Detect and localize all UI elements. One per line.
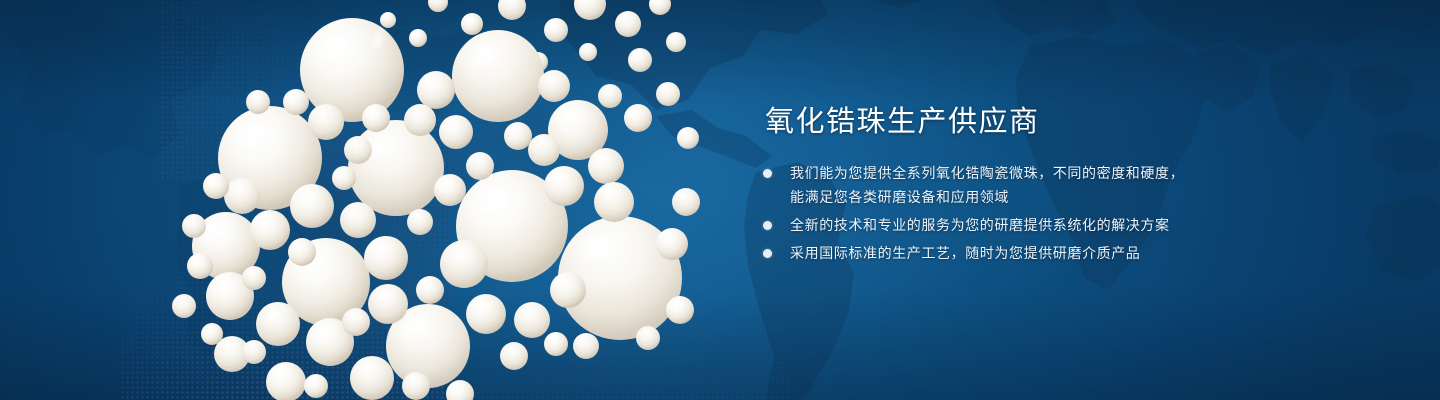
list-item: 我们能为您提供全系列氧化锆陶瓷微珠，不同的密度和硬度， 能满足您各类研磨设备和应… bbox=[762, 161, 1362, 209]
list-item-line: 采用国际标准的生产工艺，随时为您提供研磨介质产品 bbox=[790, 241, 1362, 265]
banner-copy: 氧化锆珠生产供应商 我们能为您提供全系列氧化锆陶瓷微珠，不同的密度和硬度， 能满… bbox=[762, 105, 1362, 269]
product-image-zirconia-beads bbox=[120, 0, 720, 400]
list-item: 采用国际标准的生产工艺，随时为您提供研磨介质产品 bbox=[762, 241, 1362, 265]
list-item-line: 我们能为您提供全系列氧化锆陶瓷微珠，不同的密度和硬度， bbox=[790, 161, 1362, 185]
feature-list: 我们能为您提供全系列氧化锆陶瓷微珠，不同的密度和硬度， 能满足您各类研磨设备和应… bbox=[762, 161, 1362, 265]
bullet-dot-icon bbox=[763, 169, 772, 178]
page-title: 氧化锆珠生产供应商 bbox=[765, 105, 1362, 139]
bullet-dot-icon bbox=[763, 221, 772, 230]
hero-banner: 氧化锆珠生产供应商 我们能为您提供全系列氧化锆陶瓷微珠，不同的密度和硬度， 能满… bbox=[0, 0, 1440, 400]
beads-canvas bbox=[120, 0, 720, 400]
bullet-dot-icon bbox=[763, 249, 772, 258]
list-item-line: 全新的技术和专业的服务为您的研磨提供系统化的解决方案 bbox=[790, 213, 1362, 237]
list-item-line: 能满足您各类研磨设备和应用领域 bbox=[790, 185, 1362, 209]
list-item: 全新的技术和专业的服务为您的研磨提供系统化的解决方案 bbox=[762, 213, 1362, 237]
